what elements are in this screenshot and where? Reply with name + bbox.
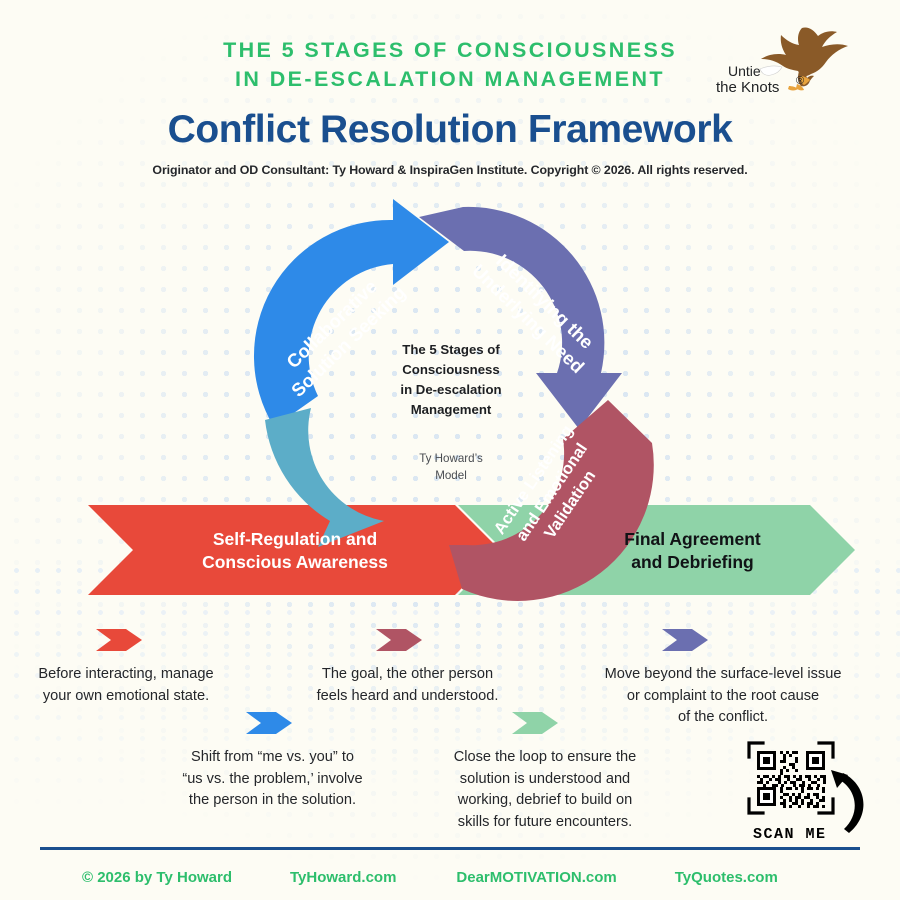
note-active-listening: The goal, the other person feels heard a… (290, 664, 525, 707)
note-5-line-2: solution is understood and (430, 769, 660, 791)
note-5-line-1: Close the loop to ensure the (430, 747, 660, 769)
note-2-line-1: The goal, the other person (290, 664, 525, 686)
banner-label-final-agreement: Final Agreement and Debriefing (585, 528, 800, 574)
note-1-line-1: Before interacting, manage (12, 664, 240, 686)
credit-line: Originator and OD Consultant: Ty Howard … (0, 163, 900, 177)
banner-right-line-2: and Debriefing (585, 551, 800, 574)
banner-label-self-regulation: Self-Regulation and Conscious Awareness (150, 528, 440, 574)
logo-line-2: the Knots (716, 79, 779, 96)
scan-me-label: SCAN ME (753, 826, 827, 842)
center-title-line-1: The 5 Stages of (381, 340, 521, 360)
note-5-line-3: working, debrief to build on (430, 790, 660, 812)
footer: © 2026 by Ty Howard TyHoward.com DearMOT… (40, 860, 860, 894)
logo-line-1: Untie (728, 63, 761, 79)
center-model-title: The 5 Stages of Consciousness in De-esca… (381, 340, 521, 420)
note-self-regulation: Before interacting, manage your own emot… (12, 664, 240, 707)
banner-left-line-1: Self-Regulation and (150, 528, 440, 551)
note-3-line-1: Move beyond the surface-level issue (578, 664, 868, 686)
center-title-line-4: Management (381, 400, 521, 420)
brand-logo: Untie the Knots ® (714, 14, 884, 114)
banner-right-line-1: Final Agreement (585, 528, 800, 551)
note-collaborative-solution: Shift from “me vs. you” to “us vs. the p… (160, 747, 385, 812)
note-2-line-2: feels heard and understood. (290, 686, 525, 708)
note-underlying-need: Move beyond the surface-level issue or c… (578, 664, 868, 729)
chevron-marker-icon (376, 626, 428, 654)
eagle-icon: Untie the Knots ® (714, 14, 884, 114)
note-4-line-1: Shift from “me vs. you” to (160, 747, 385, 769)
center-sub-line-1: Ty Howard’s (381, 450, 521, 467)
chevron-marker-icon (662, 626, 714, 654)
footer-link-tyquotes[interactable]: TyQuotes.com (675, 869, 778, 886)
note-5-line-4: skills for future encounters. (430, 812, 660, 834)
footer-link-dearmotivation[interactable]: DearMOTIVATION.com (456, 869, 616, 886)
qr-code[interactable]: SCAN ME (745, 737, 870, 842)
note-3-line-2: or complaint to the root cause (578, 686, 868, 708)
chevron-marker-icon (96, 626, 148, 654)
footer-link-tyhoward[interactable]: TyHoward.com (290, 869, 396, 886)
note-1-line-2: your own emotional state. (12, 686, 240, 708)
center-title-line-2: Consciousness (381, 360, 521, 380)
note-4-line-2: “us vs. the problem,’ involve (160, 769, 385, 791)
footer-divider (40, 847, 860, 850)
banner-left-line-2: Conscious Awareness (150, 551, 440, 574)
footer-copyright: © 2026 by Ty Howard (82, 869, 232, 886)
center-model-attribution: Ty Howard’s Model (381, 450, 521, 484)
logo-registered-mark: ® (796, 75, 804, 87)
chevron-marker-icon (246, 709, 298, 737)
center-sub-line-2: Model (381, 467, 521, 484)
chevron-marker-icon (512, 709, 564, 737)
qr-code-icon[interactable]: SCAN ME (745, 737, 870, 842)
note-3-line-3: of the conflict. (578, 707, 868, 729)
note-final-agreement: Close the loop to ensure the solution is… (430, 747, 660, 833)
note-4-line-3: the person in the solution. (160, 790, 385, 812)
page-title: Conflict Resolution Framework (0, 108, 900, 152)
infographic-root: THE 5 STAGES OF CONSCIOUSNESS IN DE-ESCA… (0, 0, 900, 900)
center-title-line-3: in De-escalation (381, 380, 521, 400)
